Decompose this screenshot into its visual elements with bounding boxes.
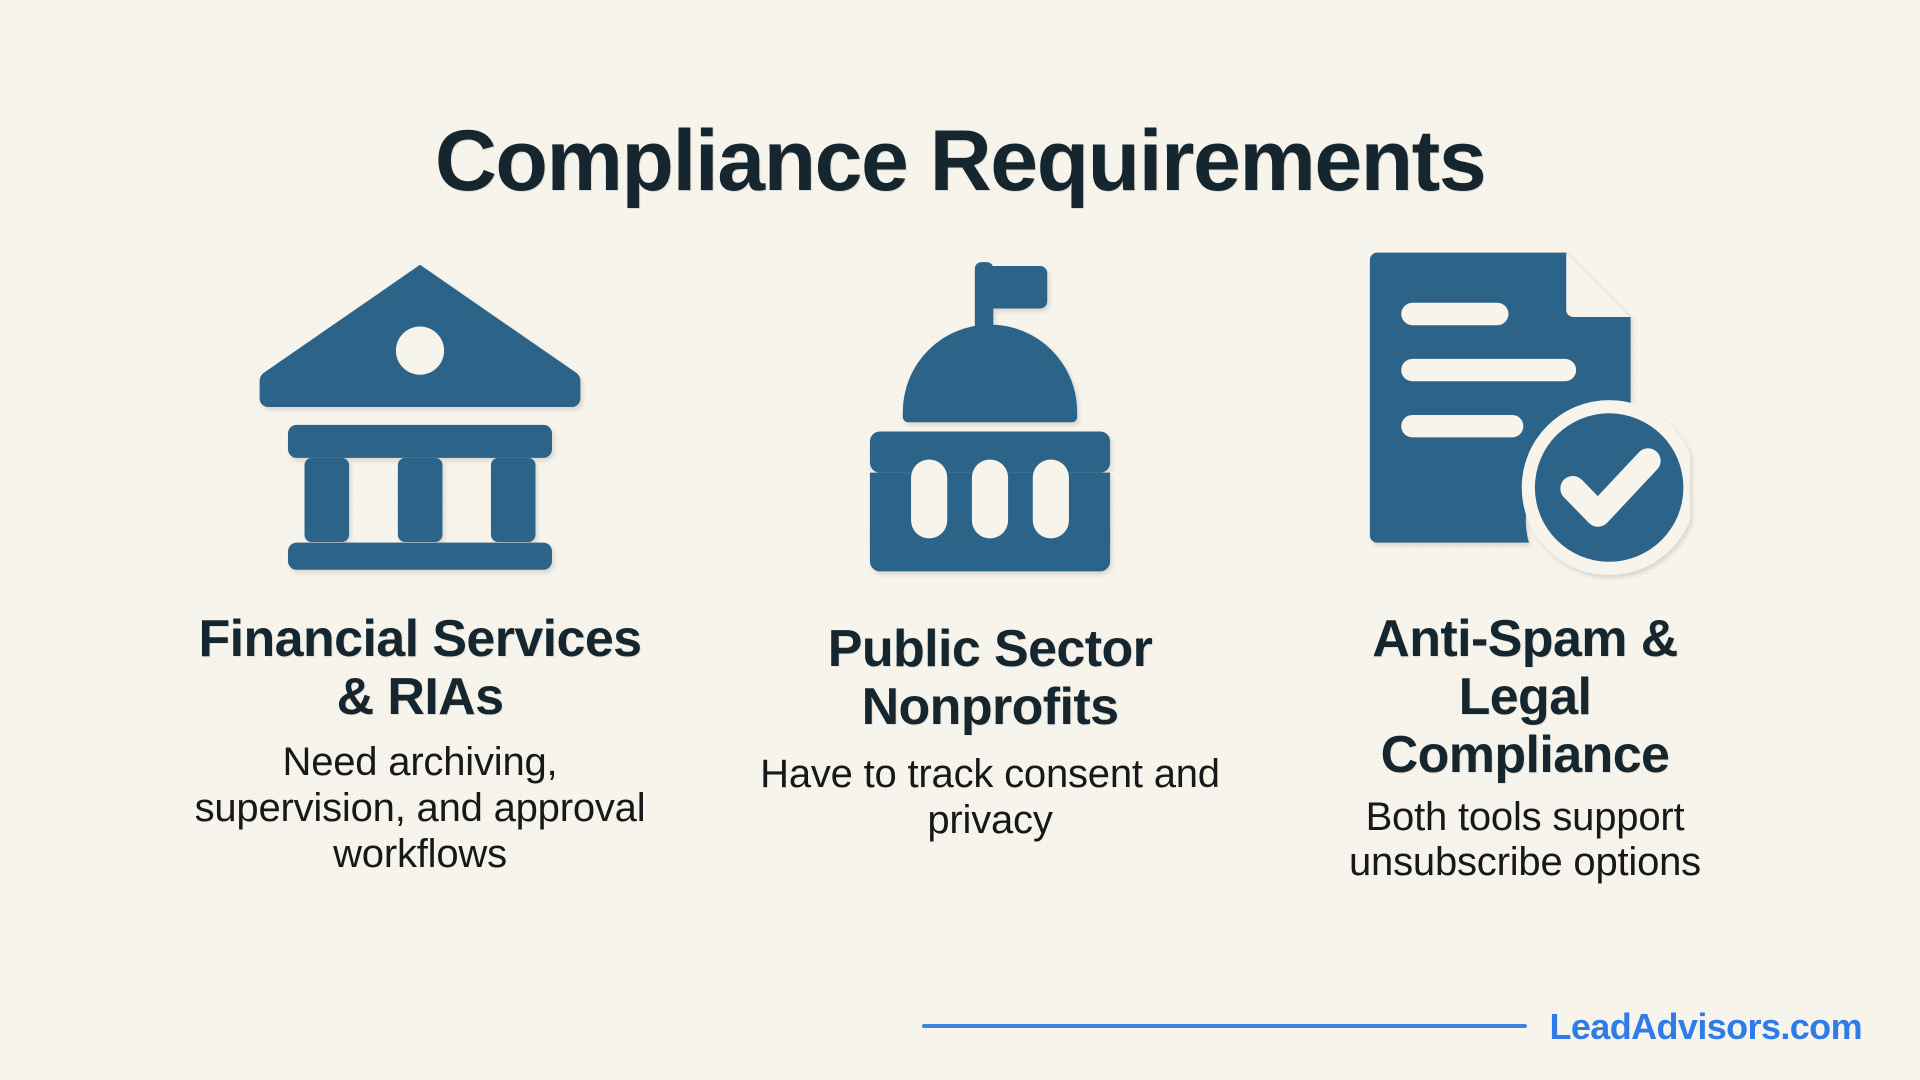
feature-heading: Anti-Spam & Legal Compliance — [1310, 610, 1740, 785]
bank-columns-icon — [255, 210, 585, 610]
feature-heading: Financial Services & RIAs — [180, 610, 660, 726]
footer-divider-line — [922, 1024, 1527, 1028]
feature-body: Both tools support unsubscribe options — [1310, 795, 1740, 886]
footer: LeadAdvisors.com — [0, 992, 1920, 1062]
feature-column-public-sector: Public Sector Nonprofits Have to track c… — [755, 210, 1225, 844]
feature-column-anti-spam: Anti-Spam & Legal Compliance Both tools … — [1310, 210, 1740, 886]
page-title: Compliance Requirements — [0, 116, 1920, 206]
infographic-canvas: Compliance Requirements — [0, 0, 1920, 1080]
document-check-icon — [1360, 210, 1690, 610]
capitol-building-flag-icon — [865, 210, 1115, 620]
feature-column-financial-services: Financial Services & RIAs Need archiving… — [180, 210, 660, 877]
brand-wordmark[interactable]: LeadAdvisors.com — [1549, 1006, 1862, 1048]
feature-body: Have to track consent and privacy — [755, 752, 1225, 843]
feature-heading: Public Sector Nonprofits — [755, 620, 1225, 736]
feature-body: Need archiving, supervision, and approva… — [180, 740, 660, 877]
feature-columns: Financial Services & RIAs Need archiving… — [180, 210, 1740, 1010]
